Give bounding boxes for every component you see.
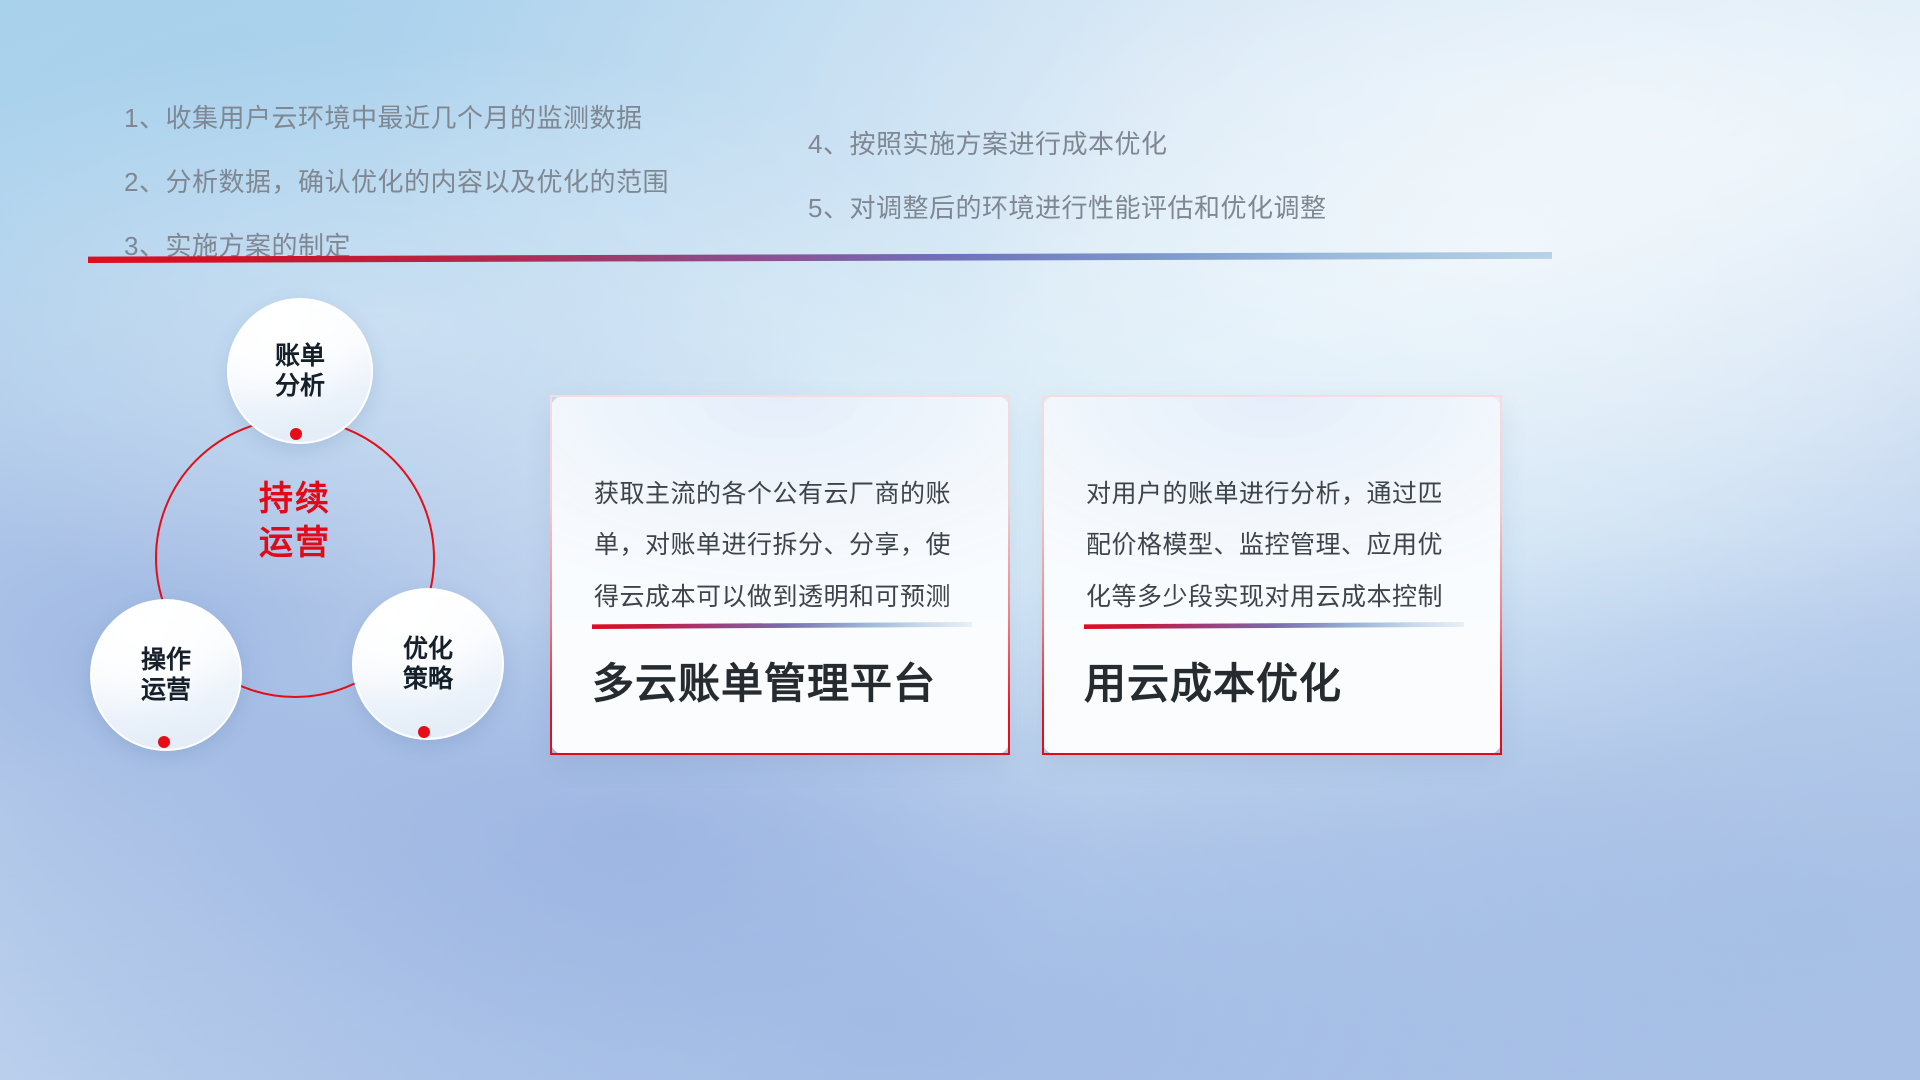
card-1-body: 获取主流的各个公有云厂商的账单，对账单进行拆分、分享，使得云成本可以做到透明和可… <box>594 469 966 623</box>
card-multi-cloud-bill-platform[interactable]: 获取主流的各个公有云厂商的账单，对账单进行拆分、分享，使得云成本可以做到透明和可… <box>550 395 1010 755</box>
card-2-title: 用云成本优化 <box>1084 650 1342 711</box>
connector-dot-top <box>290 428 302 440</box>
bubble-bill-analysis-line2: 分析 <box>275 371 325 402</box>
process-step-1: 1、收集用户云环境中最近几个月的监测数据 <box>124 98 669 135</box>
bubble-optimization-strategy[interactable]: 优化 策略 <box>352 588 504 740</box>
center-label-line1: 持续 <box>155 478 435 522</box>
connector-dot-right <box>418 726 430 738</box>
connector-dot-left <box>158 736 170 748</box>
bubble-bill-analysis[interactable]: 账单 分析 <box>227 298 373 444</box>
continuous-operation-diagram: 持续 运营 账单 分析 操作 运营 优化 策略 <box>80 288 540 768</box>
section-divider-bar <box>88 252 1552 263</box>
card-cloud-cost-optimization[interactable]: 对用户的账单进行分析，通过匹配价格模型、监控管理、应用优化等多少段实现对用云成本… <box>1042 395 1502 755</box>
bubble-optimization-strategy-line2: 策略 <box>403 664 453 695</box>
bubble-bill-analysis-line1: 账单 <box>275 341 325 372</box>
center-label-line2: 运营 <box>155 522 435 566</box>
process-steps-right: 4、按照实施方案进行成本优化 5、对调整后的环境进行性能评估和优化调整 <box>808 124 1326 252</box>
bubble-operation-management-line1: 操作 <box>141 645 191 676</box>
slide-stage: 1、收集用户云环境中最近几个月的监测数据 2、分析数据，确认优化的内容以及优化的… <box>0 0 1920 1080</box>
process-step-2: 2、分析数据，确认优化的内容以及优化的范围 <box>124 162 669 199</box>
bubble-operation-management-line2: 运营 <box>141 675 191 706</box>
bubble-operation-management[interactable]: 操作 运营 <box>90 599 242 751</box>
bubble-optimization-strategy-line1: 优化 <box>403 634 453 665</box>
diagram-center-label: 持续 运营 <box>155 478 435 565</box>
card-1-title: 多云账单管理平台 <box>592 650 936 711</box>
divider-gradient <box>88 252 1552 263</box>
process-step-4: 4、按照实施方案进行成本优化 <box>808 124 1326 161</box>
process-step-5: 5、对调整后的环境进行性能评估和优化调整 <box>808 188 1326 225</box>
card-2-divider <box>1084 622 1464 629</box>
card-1-divider <box>592 622 972 629</box>
card-2-body: 对用户的账单进行分析，通过匹配价格模型、监控管理、应用优化等多少段实现对用云成本… <box>1086 469 1458 623</box>
